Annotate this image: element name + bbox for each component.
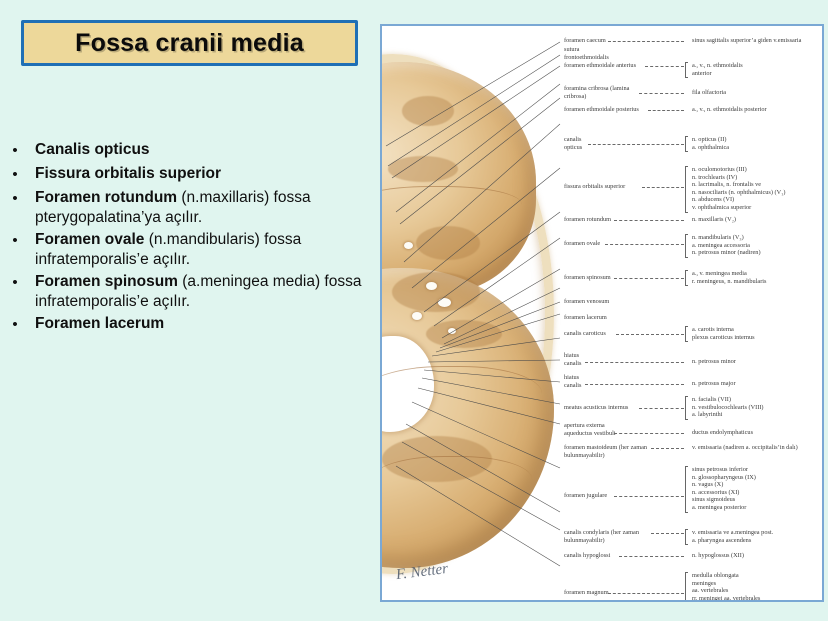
callout-connector [614, 433, 684, 434]
list-item: •Foramen lacerum [4, 314, 376, 335]
bullet-icon: • [4, 230, 26, 251]
bullet-list: •Canalis opticus•Fissura orbitalis super… [4, 140, 376, 338]
callout-brace [685, 270, 688, 286]
list-item-term: Fissura orbitalis superior [35, 165, 221, 182]
callout-connector [619, 556, 684, 557]
bullet-icon: • [4, 314, 26, 335]
callout-connector [651, 448, 684, 449]
callout-contents-foramen-ethmoidale-posterius: a., v., n. ethmoidalis posterior [692, 106, 824, 114]
callout-contents-foramen-ethmoidale-anterius: a., v., n. ethmoidalis anterior [692, 62, 824, 77]
list-item-term: Foramen rotundum [35, 189, 177, 206]
callout-brace [685, 136, 688, 152]
list-item: •Canalis opticus [4, 140, 376, 161]
callout-contents-canalis-hypoglossi: n. hypoglossus (XII) [692, 552, 824, 560]
callout-connector [585, 362, 684, 363]
callout-connector [651, 533, 684, 534]
callout-brace [685, 234, 688, 258]
callout-term-canalis-condylaris: canalis condylaris (her zaman bulunmayab… [564, 529, 682, 544]
bullet-icon: • [4, 140, 26, 161]
callout-connector [608, 593, 684, 594]
page-title: Fossa cranii media [75, 29, 304, 58]
bullet-icon: • [4, 164, 26, 185]
callout-connector [616, 334, 684, 335]
callout-connector [645, 66, 684, 67]
list-item-term: Foramen ovale [35, 231, 144, 248]
list-item-label: Foramen spinosum (a.meningea media) foss… [26, 272, 376, 311]
callout-connector [639, 408, 684, 409]
callout-brace [685, 466, 688, 513]
callout-brace [685, 62, 688, 78]
callout-term-hiatus-canalis-major: hiatus canalis [564, 374, 682, 389]
callout-contents-fissura-orbitalis-superior: n. oculomotorius (III) n. trochlearis (I… [692, 166, 824, 212]
list-item-term: Foramen spinosum [35, 273, 178, 290]
anatomy-figure-panel: F. Netter IBN [380, 24, 824, 602]
bullet-icon: • [4, 272, 26, 293]
callout-connector [648, 110, 684, 111]
callout-contents-foramen-caecum: sinus sagittalis superior’a giden v.emis… [692, 37, 824, 45]
callout-brace [685, 572, 688, 602]
callout-term-foramen-lacerum: foramen lacerum [564, 314, 682, 322]
callout-contents-canalis-caroticus: a. carotis interna plexus caroticus inte… [692, 326, 824, 341]
callout-contents-meatus-acusticus-internus: n. facialis (VII) n. vestibulocochlearis… [692, 396, 824, 419]
list-item: •Fissura orbitalis superior [4, 164, 376, 185]
bullet-icon: • [4, 188, 26, 209]
callout-contents-foramen-jugulare: sinus petrosus inferior n. glossopharyng… [692, 466, 824, 512]
list-item-label: Canalis opticus [26, 140, 376, 160]
callout-connector [588, 144, 684, 145]
list-item: •Foramen spinosum (a.meningea media) fos… [4, 272, 376, 311]
callout-contents-canalis-opticus: n. opticus (II) a. ophthalmica [692, 136, 824, 151]
callout-connector [608, 41, 684, 42]
slide-title-banner: Fossa cranii media [21, 20, 358, 66]
callout-connector [585, 384, 684, 385]
callout-connector [614, 278, 684, 279]
list-item-term: Canalis opticus [35, 141, 150, 158]
callout-contents-foramen-rotundum: n. maxillaris (V₂) [692, 216, 824, 224]
callout-brace [685, 166, 688, 213]
list-item-term: Foramen lacerum [35, 315, 164, 332]
callout-connector [639, 93, 684, 94]
list-item-label: Foramen lacerum [26, 314, 376, 334]
callout-term-foramen-mastoideum: foramen mastoideum (her zaman bulunmayab… [564, 444, 682, 459]
callout-contents-foramina-cribrosa: fila olfactoria [692, 89, 824, 97]
callout-connector [605, 244, 684, 245]
callout-contents-hiatus-canalis-minor: n. petrosus minor [692, 358, 824, 366]
callout-contents-foramen-mastoideum: v. emissaria (nadiren a. occipitalis’in … [692, 444, 824, 452]
callout-connector [642, 187, 684, 188]
callout-brace [685, 529, 688, 545]
callout-term-sutura-frontoethmoidalis: sutura frontoethmoidalis [564, 46, 682, 61]
callout-brace [685, 326, 688, 342]
callout-contents-hiatus-canalis-major: n. petrosus major [692, 380, 824, 388]
callout-brace [685, 396, 688, 420]
callout-contents-apertura-externa: ductus endolymphaticus [692, 429, 824, 437]
list-item-label: Foramen ovale (n.mandibularis) fossa inf… [26, 230, 376, 269]
callout-connector [614, 220, 684, 221]
list-item: •Foramen ovale (n.mandibularis) fossa in… [4, 230, 376, 269]
callout-contents-canalis-condylaris: v. emissaria ve a.meningea post. a. phar… [692, 529, 824, 544]
callout-term-foramen-venosum: foramen venosum [564, 298, 682, 306]
callout-contents-foramen-magnum: medulla oblongata meninges aa. vertebral… [692, 572, 824, 602]
callout-contents-foramen-ovale: n. mandibularis (V₃) a. meningea accesso… [692, 234, 824, 257]
callout-contents-foramen-spinosum: a., v. meningea media r. meningeus, n. m… [692, 270, 824, 285]
list-item-label: Foramen rotundum (n.maxillaris) fossa pt… [26, 188, 376, 227]
list-item-label: Fissura orbitalis superior [26, 164, 376, 184]
callout-term-hiatus-canalis-minor: hiatus canalis [564, 352, 682, 367]
callout-connector [614, 496, 684, 497]
callout-term-apertura-externa: apertura externa aqueductus vestibuli [564, 422, 682, 437]
callout-labels: foramen caecumsinus sagittalis superior’… [382, 26, 824, 602]
list-item: •Foramen rotundum (n.maxillaris) fossa p… [4, 188, 376, 227]
